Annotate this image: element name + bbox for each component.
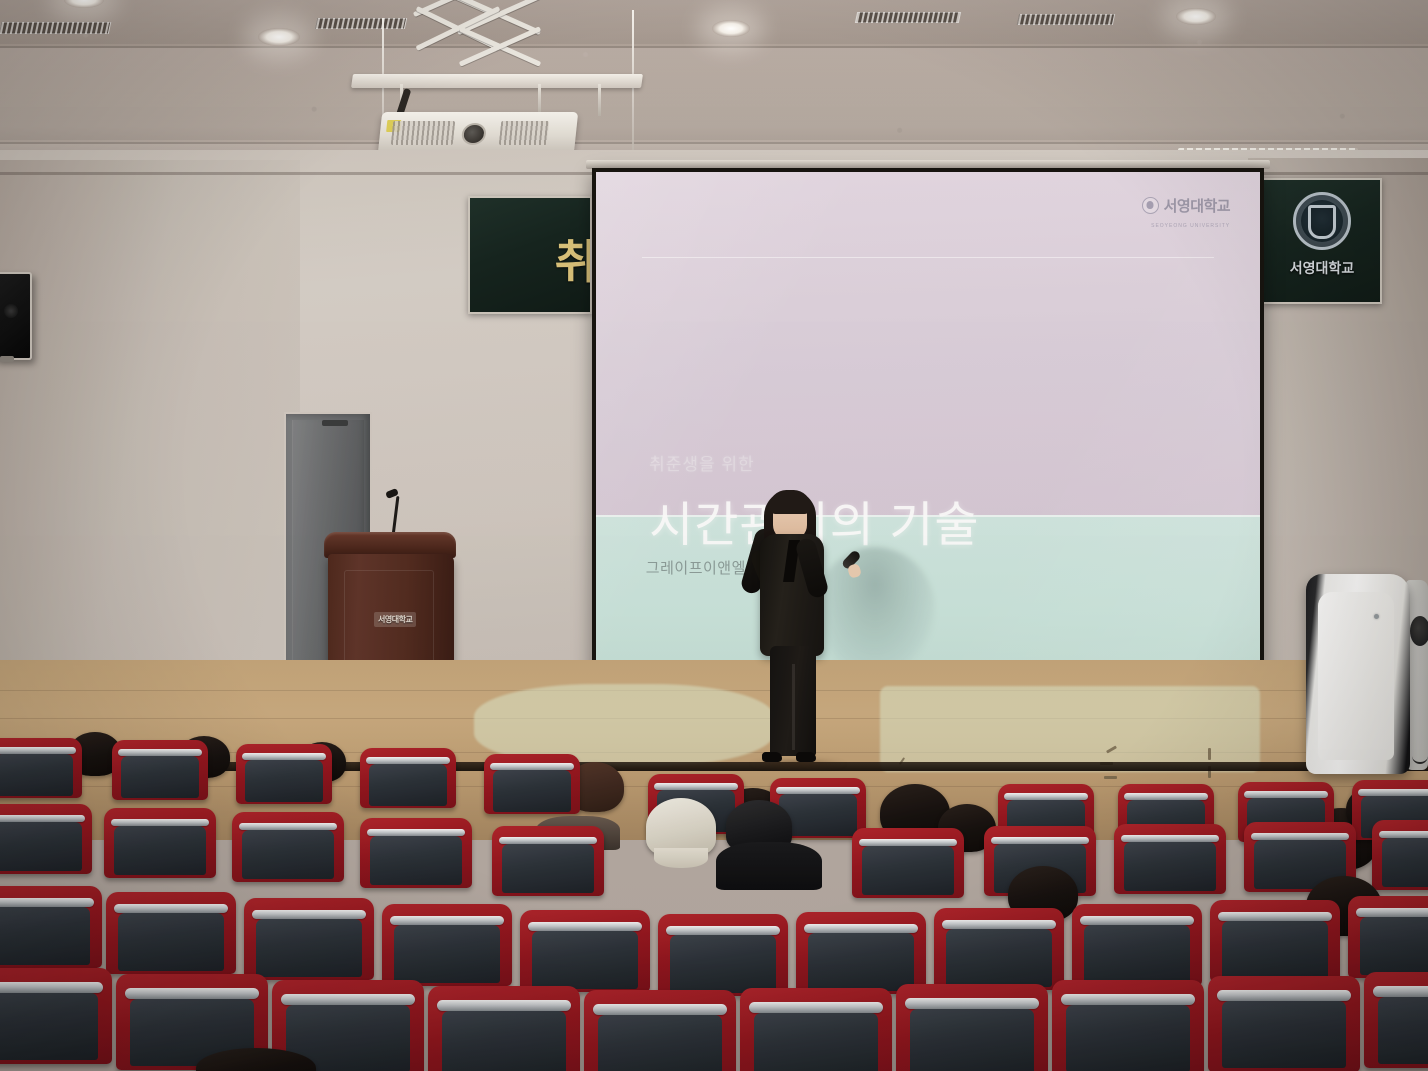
seat-trim [942, 920, 1056, 929]
seat[interactable] [0, 968, 112, 1064]
seat[interactable] [1372, 820, 1428, 890]
seat-cushion [0, 907, 90, 964]
slide-logo-label: 서영대학교 [1164, 195, 1231, 216]
seat-cushion [1378, 997, 1428, 1064]
seat-trim [666, 926, 780, 935]
seat-cushion [493, 770, 572, 812]
wall-speaker [0, 272, 32, 360]
seat-cushion [1222, 921, 1329, 978]
seat-trim [490, 763, 574, 770]
ceiling-band-mid [0, 48, 1428, 140]
ceiling-air-vent [855, 12, 961, 23]
seat-trim [1356, 908, 1428, 917]
seat[interactable] [584, 990, 736, 1071]
university-logo-icon [1142, 197, 1159, 214]
seat-cushion [369, 764, 448, 806]
auditorium-photo: 취 서영대학교 서영대학교 SEOYEONG UNIVERSITY 취준생을 위… [0, 0, 1428, 1071]
seat-cushion [114, 826, 206, 875]
seat-cushion [118, 913, 225, 970]
seat[interactable] [1114, 824, 1226, 894]
seat-trim [0, 747, 76, 754]
seat-cushion [862, 846, 954, 895]
seat-cushion [502, 844, 594, 893]
seat[interactable] [360, 818, 472, 888]
speaker-bracket [0, 356, 14, 362]
seat-trim [749, 1002, 883, 1013]
seat[interactable] [0, 804, 92, 874]
ceiling-downlight [258, 28, 300, 46]
seat-trim [1217, 990, 1351, 1001]
ceiling-projector [352, 0, 652, 168]
seat-trim [1373, 986, 1428, 997]
seat-trim [367, 829, 466, 837]
seat-trim [859, 839, 958, 847]
seat[interactable] [1052, 980, 1204, 1071]
seat-cushion [1222, 1001, 1347, 1068]
audience-shoulders [716, 842, 822, 890]
seat[interactable] [492, 826, 604, 896]
ceiling-downlight [1176, 8, 1216, 25]
presenter-fringe [769, 490, 811, 514]
seat-trim [1080, 916, 1194, 925]
ceiling-air-vent [0, 22, 111, 34]
seat[interactable] [658, 914, 788, 996]
seat[interactable] [360, 748, 456, 808]
seat-cushion [1066, 1005, 1191, 1071]
seat-cushion [946, 929, 1053, 986]
seat[interactable] [244, 898, 374, 980]
seat-cushion [245, 760, 324, 802]
slide-hairline-rule [642, 257, 1213, 258]
projector-vent [499, 121, 550, 145]
seat-cushion [1360, 917, 1428, 974]
seat-trim [114, 904, 228, 913]
ceiling-band-upper [0, 0, 1428, 44]
seat-cushion [1124, 842, 1216, 891]
projector-drop-rod [598, 84, 601, 116]
seat-trim [1358, 789, 1428, 796]
seat-cushion [0, 993, 98, 1060]
seat-trim [281, 994, 415, 1005]
projection-screen: 서영대학교 SEOYEONG UNIVERSITY 취준생을 위한 시간관리의 … [592, 168, 1264, 676]
seat-cushion [0, 822, 82, 871]
seat-cushion [1382, 838, 1428, 887]
slide-logo-sublabel: SEOYEONG UNIVERSITY [1151, 223, 1230, 229]
projector-scissor-lift [410, 0, 550, 78]
banner-right: 서영대학교 [1262, 178, 1382, 304]
seat-trim [242, 753, 326, 760]
seat[interactable] [106, 892, 236, 974]
seat[interactable] [232, 812, 344, 882]
seat-trim [1244, 791, 1328, 798]
projector-body [378, 112, 578, 154]
seat-cushion [256, 919, 363, 976]
seat[interactable] [1208, 976, 1360, 1071]
seat-cushion [754, 1013, 879, 1071]
seat[interactable] [520, 910, 650, 992]
banner-left-char: 취 [555, 226, 592, 292]
seat-trim [1124, 793, 1208, 800]
seat-trim [905, 998, 1039, 1009]
seat-trim [239, 823, 338, 831]
door-closer-icon [322, 420, 348, 426]
seat-cushion [242, 830, 334, 879]
air-purifier-vent-icon [1410, 616, 1428, 646]
seat-cushion [598, 1015, 723, 1071]
seat-trim [366, 757, 450, 764]
slide-eyebrow-text: 취준생을 위한 [649, 450, 755, 475]
seat[interactable] [0, 886, 102, 968]
seat-trim [125, 988, 259, 999]
audience-seating [0, 700, 1428, 1071]
university-emblem-icon [1293, 192, 1351, 250]
seat-trim [390, 916, 504, 925]
projector-lens [461, 123, 487, 145]
university-emblem-label: 서영대학교 [1290, 258, 1354, 278]
seat[interactable] [1210, 900, 1340, 982]
seat-trim [437, 1000, 571, 1011]
seat-trim [0, 982, 103, 993]
seat[interactable] [104, 808, 216, 878]
seat-cushion [1084, 925, 1191, 982]
seat-cushion [121, 756, 200, 798]
seat[interactable] [428, 986, 580, 1071]
seat-trim [1218, 912, 1332, 921]
seat[interactable] [0, 738, 82, 798]
seat-cushion [910, 1009, 1035, 1071]
seat-trim [1061, 994, 1195, 1005]
slide-university-logo: 서영대학교 [1142, 195, 1231, 216]
seat-trim [991, 837, 1090, 845]
seat-trim [0, 815, 85, 823]
banner-left: 취 [468, 196, 592, 314]
seat-cushion [532, 931, 639, 988]
ceiling-air-vent [1017, 14, 1115, 25]
seat-trim [654, 783, 738, 790]
seat-trim [0, 898, 94, 907]
seat-cushion [394, 925, 501, 982]
seat[interactable] [796, 912, 926, 994]
projector-vent [391, 121, 456, 145]
seat-trim [1004, 793, 1088, 800]
seat-trim [499, 837, 598, 845]
seat[interactable] [1072, 904, 1202, 986]
seat[interactable] [1364, 972, 1428, 1068]
seat[interactable] [382, 904, 512, 986]
seat[interactable] [236, 744, 332, 804]
seat-cushion [0, 754, 73, 796]
seat-cushion [370, 836, 462, 885]
seat-trim [528, 922, 642, 931]
air-purifier-indicator-light [1374, 614, 1379, 619]
podium-plaque: 서영대학교 [374, 612, 416, 627]
audience-head-with-cap [646, 798, 716, 856]
seat-trim [804, 924, 918, 933]
ceiling-downlight [712, 20, 750, 37]
seat-trim [776, 787, 860, 794]
seat[interactable] [852, 828, 964, 898]
seat-trim [593, 1004, 727, 1015]
seat-trim [1121, 835, 1220, 843]
seat-cushion [808, 933, 915, 990]
seat[interactable] [112, 740, 208, 800]
seat[interactable] [484, 754, 580, 814]
seat-trim [118, 749, 202, 756]
seat-cushion [670, 935, 777, 992]
seat-trim [252, 910, 366, 919]
seat[interactable] [934, 908, 1064, 990]
seat-trim [1251, 833, 1350, 841]
seat-trim [1379, 831, 1428, 839]
seat-trim [111, 819, 210, 827]
seat-cushion [442, 1011, 567, 1071]
seat[interactable] [740, 988, 892, 1071]
seat[interactable] [896, 984, 1048, 1071]
seat[interactable] [1348, 896, 1428, 978]
